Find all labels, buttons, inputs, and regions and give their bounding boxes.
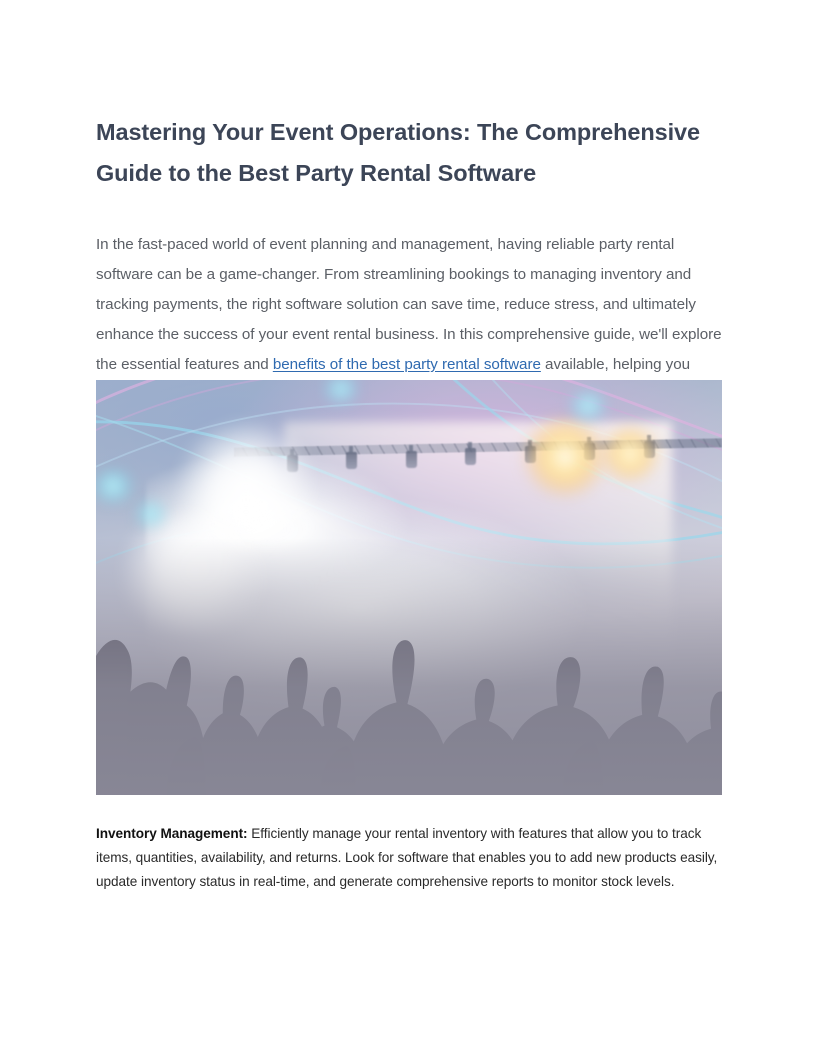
spotlight-glow — [566, 392, 610, 420]
stage-lamp — [465, 448, 476, 465]
spotlight-glow — [522, 417, 608, 497]
inventory-management-paragraph: Inventory Management: Efficiently manage… — [96, 822, 722, 894]
stage-lamp — [346, 452, 357, 469]
article-content: Mastering Your Event Operations: The Com… — [96, 112, 722, 410]
page-title: Mastering Your Event Operations: The Com… — [96, 112, 722, 194]
section-lead-in: Inventory Management: — [96, 826, 248, 841]
document-page: Mastering Your Event Operations: The Com… — [0, 0, 816, 1056]
concert-photo — [96, 380, 722, 795]
spotlight-glow — [600, 426, 660, 482]
intro-paragraph: In the fast-paced world of event plannin… — [96, 194, 722, 410]
photo-haze-veil — [96, 538, 722, 795]
concert-photo-canvas — [96, 380, 722, 795]
party-rental-software-link[interactable]: benefits of the best party rental softwa… — [273, 356, 541, 373]
intro-text-before-link: In the fast-paced world of event plannin… — [96, 236, 722, 373]
stage-lamp — [406, 451, 417, 468]
spotlight-glow — [134, 502, 168, 526]
